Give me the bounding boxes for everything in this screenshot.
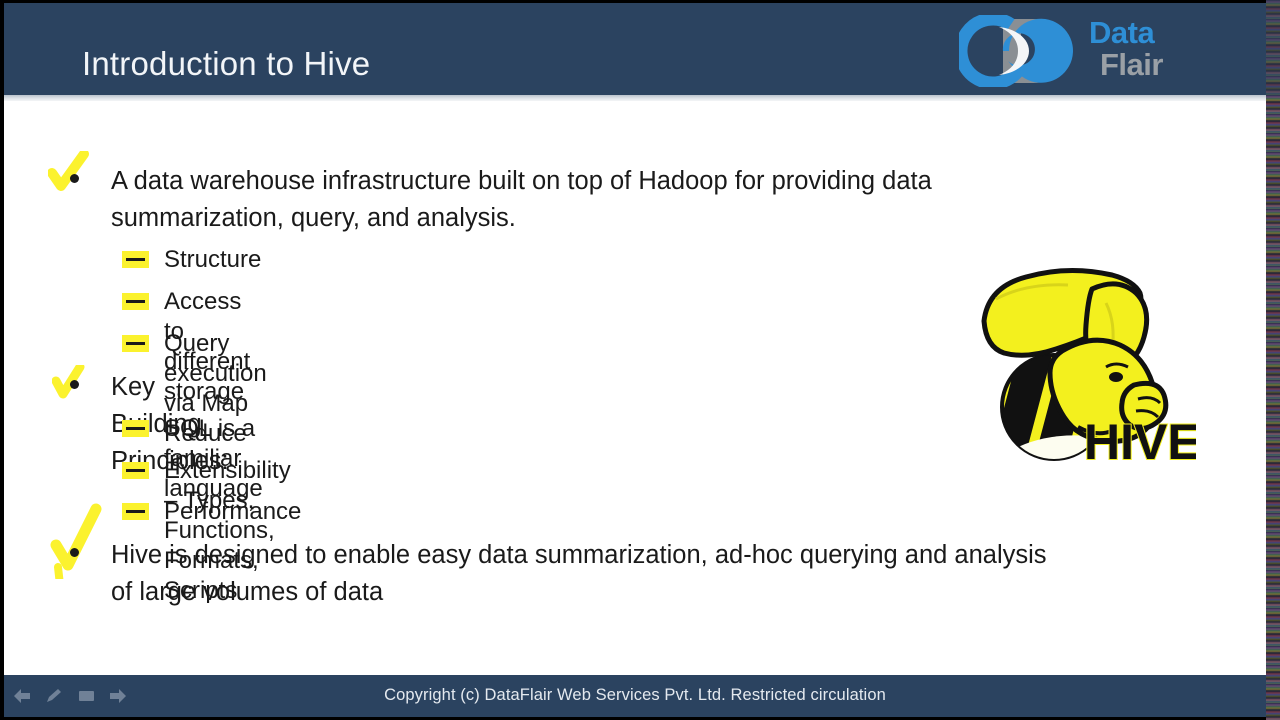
slide-header: Introduction to Hive Data (4, 3, 1266, 95)
brand-word-data: Data (1089, 17, 1219, 49)
sub-bullet-dash (122, 335, 149, 352)
check-mark-icon (44, 497, 106, 579)
list-item: A data warehouse infrastructure built on… (4, 163, 1004, 239)
brand-word-flair: Flair (1089, 49, 1219, 81)
sub-bullet-dash (122, 462, 149, 479)
hive-wordmark-text: HIVE (1084, 414, 1196, 470)
bullet-dot (70, 174, 79, 183)
sub-bullet-dash (122, 293, 149, 310)
list-item-text: A data warehouse infrastructure built on… (111, 163, 1051, 237)
video-artifact-strip (1266, 0, 1280, 720)
check-mark-icon (48, 151, 90, 197)
slide-canvas: Introduction to Hive Data (4, 3, 1266, 717)
check-mark-icon (52, 365, 86, 405)
sub-bullet-dash (122, 251, 149, 268)
copyright-text: Copyright (c) DataFlair Web Services Pvt… (4, 686, 1266, 705)
list-item-text: Performance (164, 497, 301, 527)
list-item-text: Structure (164, 245, 261, 275)
page-title: Introduction to Hive (82, 45, 370, 83)
sub-bullet-dash (122, 503, 149, 520)
slide-footer: Copyright (c) DataFlair Web Services Pvt… (4, 675, 1266, 717)
list-item: Hive is designed to enable easy data sum… (4, 537, 1004, 613)
dataflair-logo: Data Flair (959, 11, 1219, 89)
dataflair-wordmark: Data Flair (1089, 17, 1219, 85)
dataflair-logo-mark (959, 15, 1087, 87)
presentation-slide: Introduction to Hive Data (0, 0, 1280, 720)
slide-body: A data warehouse infrastructure built on… (4, 101, 1266, 672)
video-artifact-strip-overlay (1266, 0, 1280, 96)
sub-bullet-dash (122, 420, 149, 437)
list-item-text: Hive is designed to enable easy data sum… (111, 537, 1051, 611)
bullet-dot (70, 548, 79, 557)
hive-logo: HIVE (966, 259, 1196, 474)
bullet-dot (70, 380, 79, 389)
